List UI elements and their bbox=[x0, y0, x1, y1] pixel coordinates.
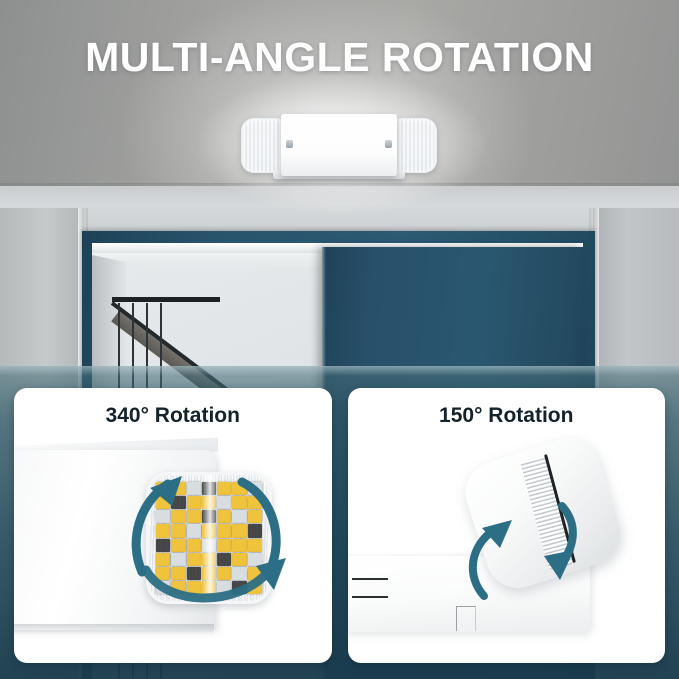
card-title-150: 150° Rotation bbox=[348, 404, 666, 428]
rotation-arrows-150 bbox=[348, 388, 648, 663]
lamp-pivot-right bbox=[385, 140, 392, 148]
illustration-340-rotation bbox=[14, 388, 332, 663]
arrow-path-up-left bbox=[472, 530, 493, 596]
product-infographic: MULTI-ANGLE ROTATION 340° Rotation bbox=[0, 0, 679, 679]
arrow-path-right bbox=[242, 482, 276, 570]
feature-card-row: 340° Rotation bbox=[14, 388, 665, 663]
arrow-path-bottom bbox=[146, 570, 268, 598]
rotation-arrow-ring-340 bbox=[106, 454, 302, 626]
arrow-head-down-right bbox=[544, 550, 574, 580]
floor-highlight bbox=[0, 366, 679, 376]
fixture-body bbox=[281, 114, 397, 176]
feature-card-rotation-340[interactable]: 340° Rotation bbox=[14, 388, 332, 663]
card-title-340: 340° Rotation bbox=[14, 404, 332, 428]
emergency-light-fixture-icon bbox=[239, 112, 439, 184]
stair-handrail-head bbox=[112, 297, 220, 302]
illustration-150-rotation bbox=[348, 388, 666, 663]
lamp-pivot-left bbox=[286, 140, 293, 148]
feature-card-rotation-150[interactable]: 150° Rotation bbox=[348, 388, 666, 663]
ceiling-soffit bbox=[0, 186, 679, 234]
page-title: MULTI-ANGLE ROTATION bbox=[0, 34, 679, 81]
